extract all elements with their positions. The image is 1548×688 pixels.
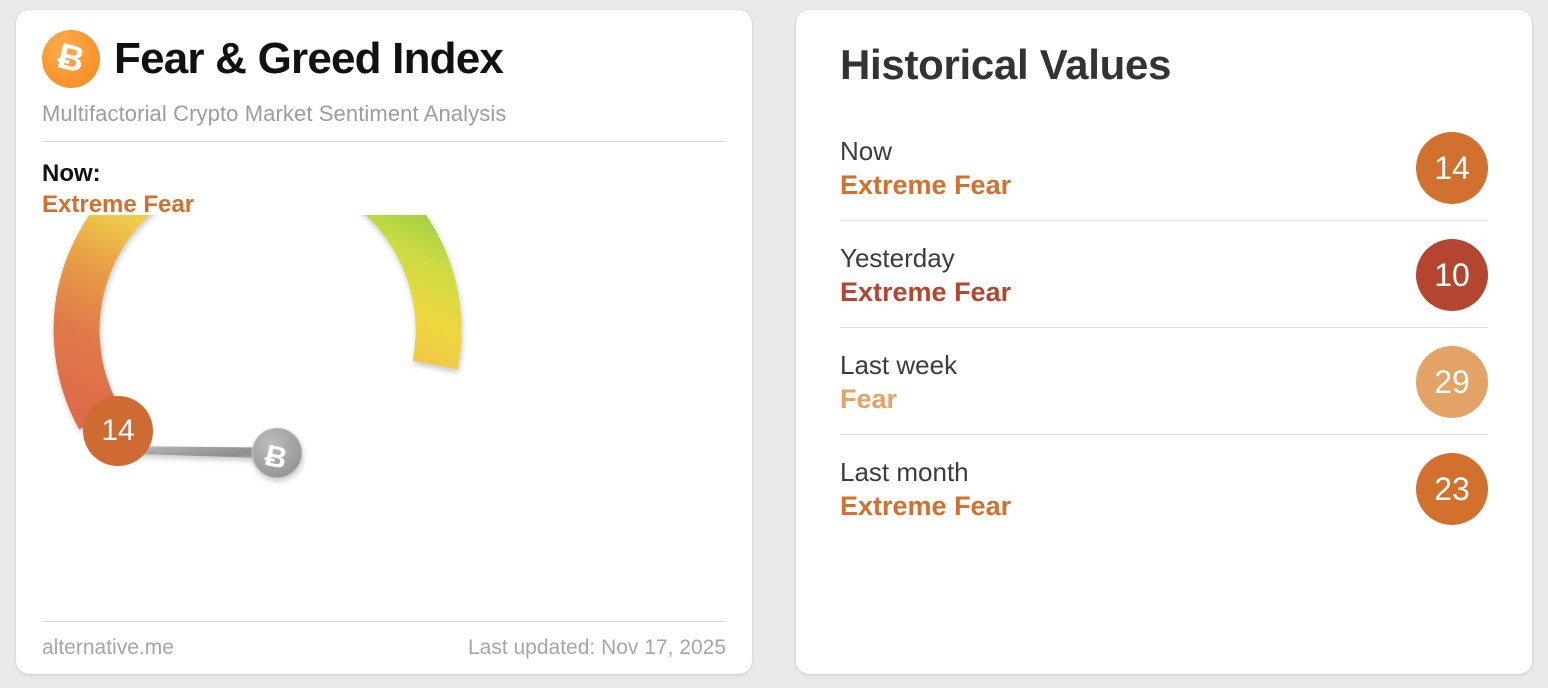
source-link[interactable]: alternative.me	[42, 636, 174, 660]
page-subtitle: Multifactorial Crypto Market Sentiment A…	[42, 101, 726, 127]
gauge-value-text: 14	[101, 414, 134, 448]
card-footer: alternative.me Last updated: Nov 17, 202…	[42, 636, 726, 660]
gauge-value-badge: 14	[83, 396, 153, 466]
now-label: Now:	[42, 159, 726, 189]
historical-values-card: Historical Values Now Extreme Fear 14 Ye…	[796, 10, 1532, 674]
current-status-block: Now: Extreme Fear	[42, 159, 726, 221]
list-item[interactable]: Last week Fear 29	[840, 328, 1488, 435]
row-text: Last week Fear	[840, 352, 957, 413]
row-period: Now	[840, 138, 1011, 164]
row-value-text: 10	[1434, 257, 1470, 294]
row-text: Now Extreme Fear	[840, 138, 1011, 199]
footer-divider	[42, 621, 726, 622]
row-classification: Extreme Fear	[840, 172, 1011, 199]
historical-values-title: Historical Values	[840, 44, 1488, 86]
page-root: Ƀ Fear & Greed Index Multifactorial Cryp…	[0, 0, 1548, 688]
last-updated-text: Last updated: Nov 17, 2025	[468, 636, 726, 660]
row-period: Yesterday	[840, 245, 1011, 271]
fear-greed-gauge-card: Ƀ Fear & Greed Index Multifactorial Cryp…	[16, 10, 752, 674]
row-classification: Extreme Fear	[840, 493, 1011, 520]
bitcoin-glyph: Ƀ	[54, 38, 87, 79]
row-period: Last month	[840, 459, 1011, 485]
row-text: Yesterday Extreme Fear	[840, 245, 1011, 306]
page-title: Fear & Greed Index	[114, 37, 503, 81]
row-value-text: 29	[1434, 364, 1470, 401]
historical-values-list: Now Extreme Fear 14 Yesterday Extreme Fe…	[840, 114, 1488, 541]
list-item[interactable]: Now Extreme Fear 14	[840, 114, 1488, 221]
card-header: Ƀ Fear & Greed Index	[42, 30, 726, 88]
row-classification: Extreme Fear	[840, 279, 1011, 306]
bitcoin-icon: Ƀ	[42, 30, 100, 88]
row-value-badge: 23	[1416, 453, 1488, 525]
gauge-arc	[50, 215, 446, 420]
header-divider	[42, 141, 726, 142]
gauge-needle-hub: Ƀ	[252, 428, 302, 478]
row-value-badge: 29	[1416, 346, 1488, 418]
row-value-badge: 14	[1416, 132, 1488, 204]
list-item[interactable]: Last month Extreme Fear 23	[840, 435, 1488, 541]
gauge-chart: Ƀ 14	[42, 215, 726, 621]
list-item[interactable]: Yesterday Extreme Fear 10	[840, 221, 1488, 328]
row-period: Last week	[840, 352, 957, 378]
row-classification: Fear	[840, 386, 957, 413]
row-value-text: 14	[1434, 150, 1470, 187]
gauge-svg: Ƀ	[42, 215, 732, 575]
row-text: Last month Extreme Fear	[840, 459, 1011, 520]
row-value-badge: 10	[1416, 239, 1488, 311]
row-value-text: 23	[1434, 471, 1470, 508]
